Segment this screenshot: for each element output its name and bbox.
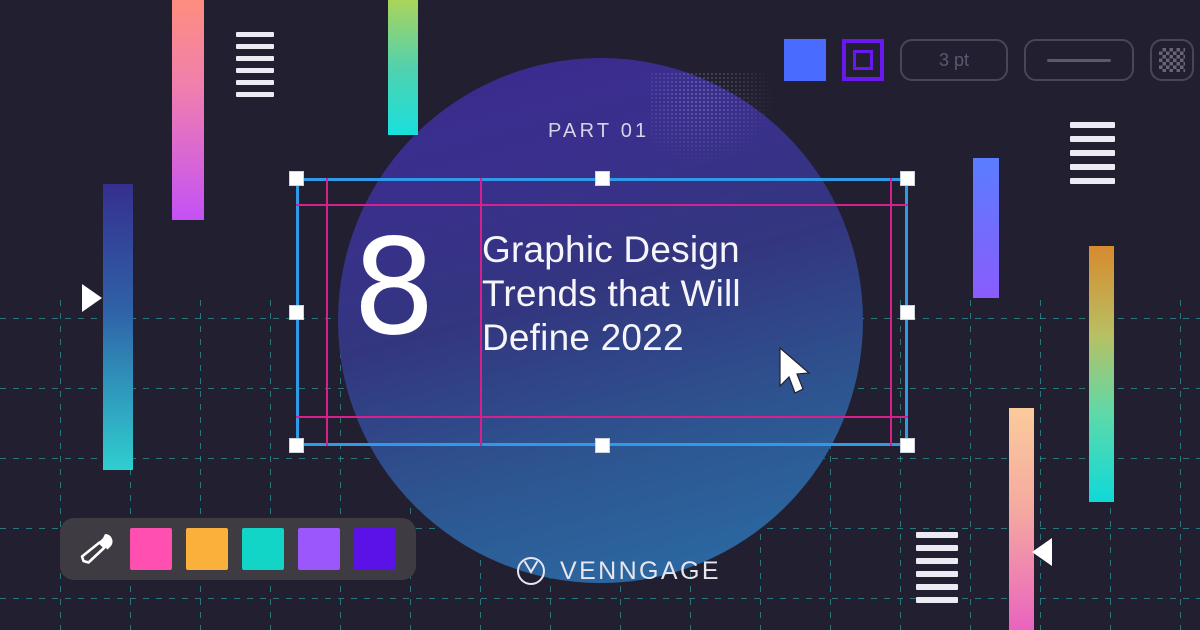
line-style-button[interactable] <box>1024 39 1134 81</box>
bar-indigo-teal <box>103 184 133 470</box>
text-lines-icon-top-right <box>1070 122 1115 184</box>
swatch-teal[interactable] <box>242 528 284 570</box>
venngage-logo: VENNGAGE <box>516 556 721 586</box>
stroke-color-swatch[interactable] <box>842 39 884 81</box>
bar-green-teal <box>388 0 418 135</box>
play-triangle-left-icon <box>1032 538 1052 566</box>
text-lines-icon-bottom <box>916 532 958 603</box>
bar-peach-pink <box>1009 408 1034 630</box>
selection-handle-middle-left[interactable] <box>289 305 304 320</box>
pointer-arrow-icon <box>776 346 816 398</box>
guide-line-horizontal-bottom <box>296 416 908 418</box>
hero-number: 8 <box>352 228 434 348</box>
part-label: PART 01 <box>548 120 649 143</box>
brand-name: VENNGAGE <box>560 557 721 586</box>
stroke-width-value: 3 pt <box>939 50 969 71</box>
play-triangle-right-icon <box>82 284 102 312</box>
bar-blue-violet <box>973 158 999 298</box>
top-toolbar[interactable]: 3 pt <box>784 38 1194 82</box>
swatch-violet[interactable] <box>354 528 396 570</box>
headline-line-2: Trends that Will <box>482 272 741 316</box>
color-swatch-toolbar[interactable] <box>60 518 416 580</box>
stroke-width-field[interactable]: 3 pt <box>900 39 1008 81</box>
eyedropper-icon[interactable] <box>76 528 116 570</box>
guide-line-horizontal-top <box>296 204 908 206</box>
headline-line-3: Define 2022 <box>482 316 741 360</box>
text-lines-icon-top-left <box>236 32 274 97</box>
guide-line-vertical-left <box>326 178 328 446</box>
stroke-inner-square-icon <box>853 50 873 70</box>
bar-salmon-purple <box>172 0 204 220</box>
swatch-amber[interactable] <box>186 528 228 570</box>
checkerboard-icon <box>1159 48 1185 72</box>
solid-line-icon <box>1047 59 1111 62</box>
transparency-button[interactable] <box>1150 39 1194 81</box>
fill-color-swatch[interactable] <box>784 39 826 81</box>
headline-line-1: Graphic Design <box>482 228 741 272</box>
selection-handle-top-left[interactable] <box>289 171 304 186</box>
design-canvas: PART 01 8 Graphic Design Trends that Wil… <box>0 0 1200 630</box>
selection-handle-middle-right[interactable] <box>900 305 915 320</box>
hero-headline: Graphic Design Trends that Will Define 2… <box>482 228 741 360</box>
swatch-pink[interactable] <box>130 528 172 570</box>
bar-orange-teal <box>1089 246 1114 502</box>
selection-handle-top-right[interactable] <box>900 171 915 186</box>
selection-handle-bottom-center[interactable] <box>595 438 610 453</box>
selection-handle-bottom-right[interactable] <box>900 438 915 453</box>
selection-handle-top-center[interactable] <box>595 171 610 186</box>
selection-handle-bottom-left[interactable] <box>289 438 304 453</box>
venngage-circle-icon <box>516 556 546 586</box>
hero-title-block: 8 Graphic Design Trends that Will Define… <box>352 228 852 360</box>
guide-line-vertical-far-right <box>890 178 892 446</box>
halftone-dots-decor <box>650 72 785 177</box>
swatch-light-purple[interactable] <box>298 528 340 570</box>
